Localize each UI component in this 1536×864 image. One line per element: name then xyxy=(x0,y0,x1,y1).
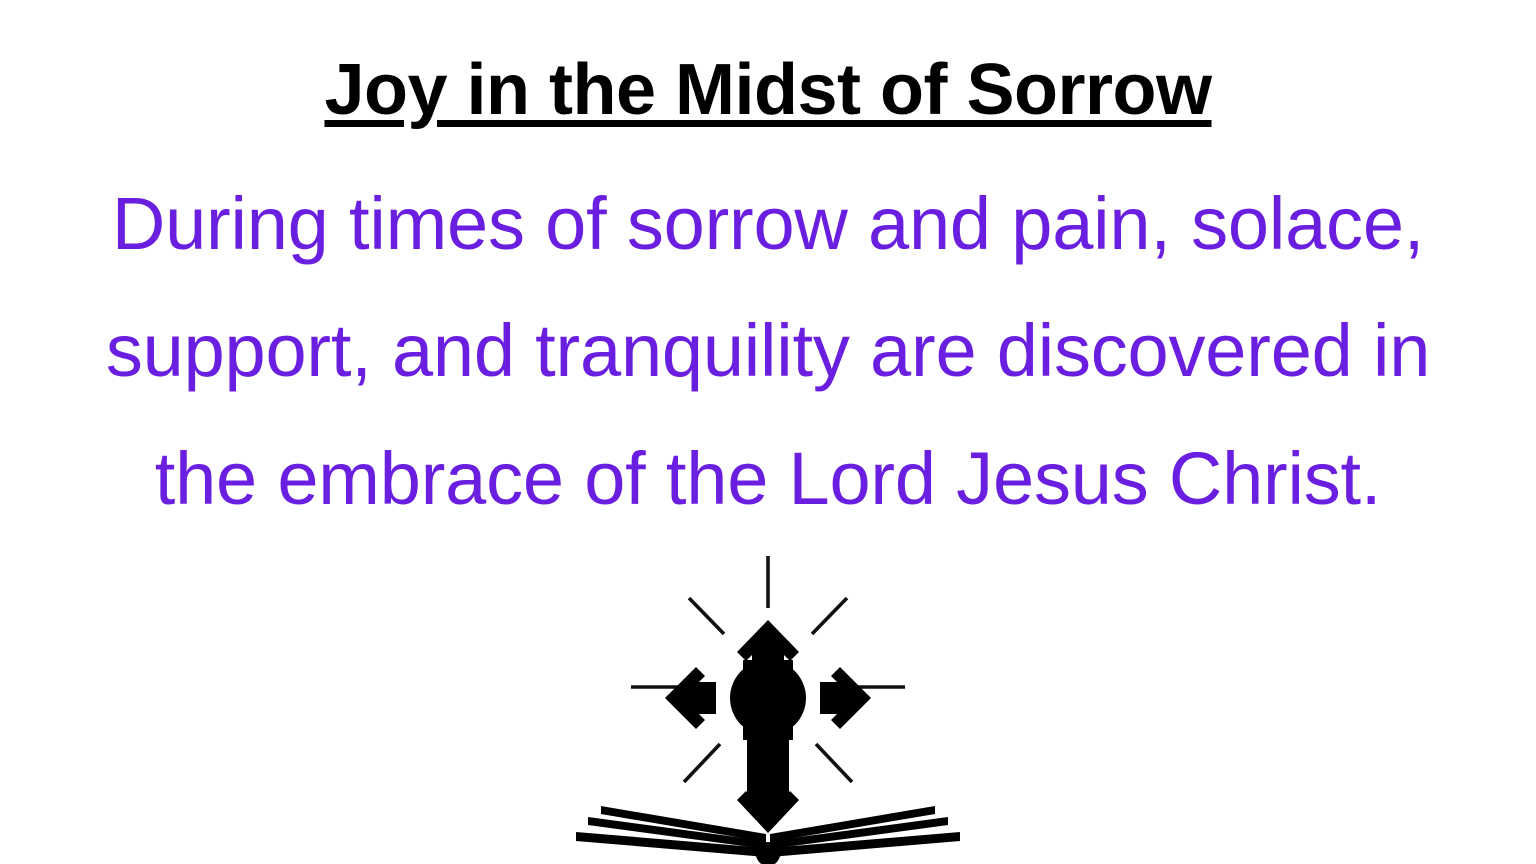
illustration-container xyxy=(0,548,1536,864)
ray-top-left xyxy=(689,598,724,634)
page-title: Joy in the Midst of Sorrow xyxy=(324,50,1211,131)
ray-bottom-left xyxy=(684,744,720,782)
cross-right-arm xyxy=(820,667,871,729)
body-line-2: support, and tranquility are discovered … xyxy=(0,287,1536,414)
title-container: Joy in the Midst of Sorrow xyxy=(0,2,1536,179)
cross-bottom-arm xyxy=(737,780,799,833)
ray-top-right xyxy=(812,598,847,634)
body-text-container: During times of sorrow and pain, solace,… xyxy=(0,160,1536,542)
slide-canvas: Joy in the Midst of Sorrow During times … xyxy=(0,0,1536,864)
cross-on-open-book-with-rays-icon xyxy=(538,548,998,864)
ray-bottom-right xyxy=(816,744,852,782)
cross-left-arm xyxy=(665,667,716,729)
body-line-1: During times of sorrow and pain, solace, xyxy=(0,160,1536,287)
body-line-3: the embrace of the Lord Jesus Christ. xyxy=(0,415,1536,542)
cross-icon xyxy=(665,620,871,833)
